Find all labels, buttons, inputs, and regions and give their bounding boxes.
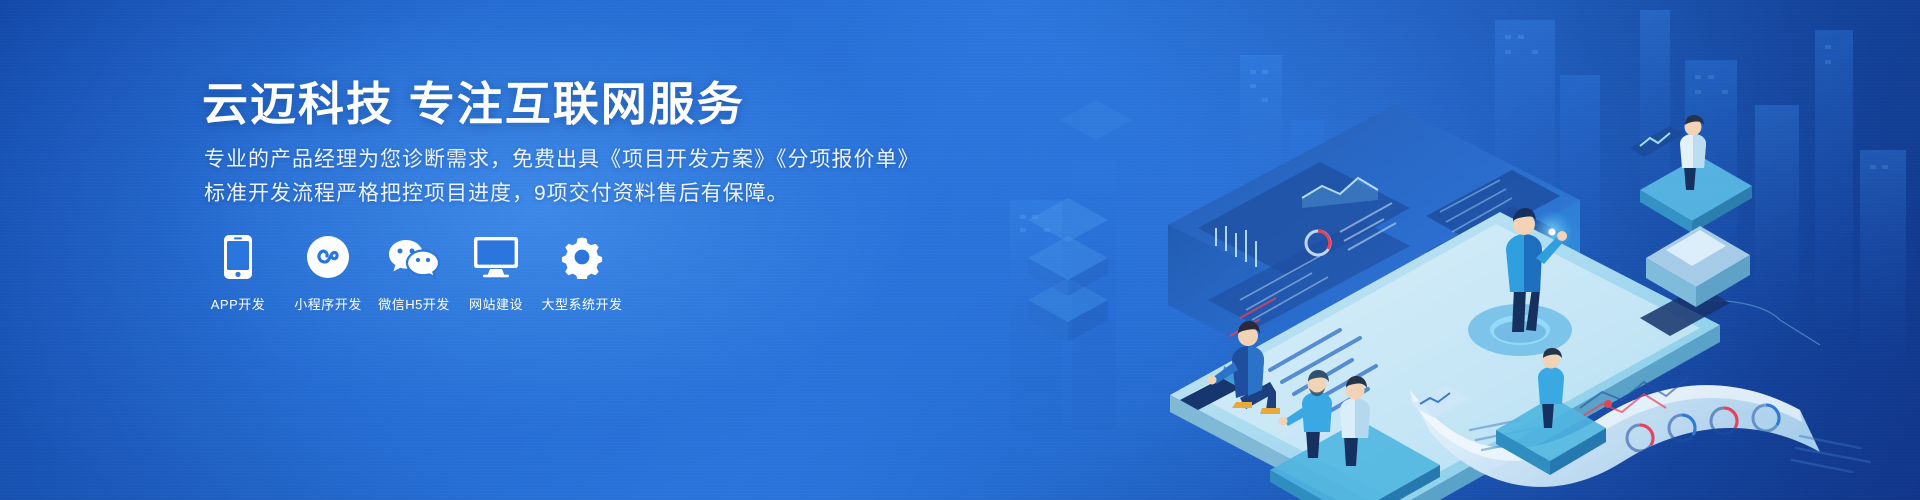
banner-subtitle-line-1: 专业的产品经理为您诊断需求，免费出具《项目开发方案》《分项报价单》 xyxy=(204,143,920,177)
banner-subtitle-line-2: 标准开发流程严格把控项目进度，9项交付资料售后有保障。 xyxy=(204,177,789,211)
service-item-miniprogram[interactable]: 小程序开发 xyxy=(292,232,364,313)
service-label: APP开发 xyxy=(211,294,266,313)
mini-program-icon xyxy=(306,232,350,282)
hero-banner: 云迈科技 专注互联网服务 专业的产品经理为您诊断需求，免费出具《项目开发方案》《… xyxy=(0,0,1920,500)
service-label: 网站建设 xyxy=(469,294,523,313)
gear-icon xyxy=(560,232,604,282)
monitor-icon xyxy=(473,232,519,282)
mobile-phone-icon xyxy=(223,232,253,282)
isometric-illustration xyxy=(940,0,1920,500)
banner-title: 云迈科技 专注互联网服务 xyxy=(202,68,745,134)
service-item-wechat-h5[interactable]: 微信H5开发 xyxy=(378,232,450,313)
service-item-app[interactable]: APP开发 xyxy=(202,232,274,313)
service-list: APP开发 小程序开发 xyxy=(202,232,618,313)
service-label: 微信H5开发 xyxy=(378,294,450,313)
service-item-website[interactable]: 网站建设 xyxy=(460,232,532,313)
service-label: 小程序开发 xyxy=(294,294,362,313)
wechat-icon xyxy=(388,232,440,282)
service-item-large-system[interactable]: 大型系统开发 xyxy=(546,232,618,313)
banner-content: 云迈科技 专注互联网服务 专业的产品经理为您诊断需求，免费出具《项目开发方案》《… xyxy=(202,0,962,500)
service-label: 大型系统开发 xyxy=(542,294,623,313)
